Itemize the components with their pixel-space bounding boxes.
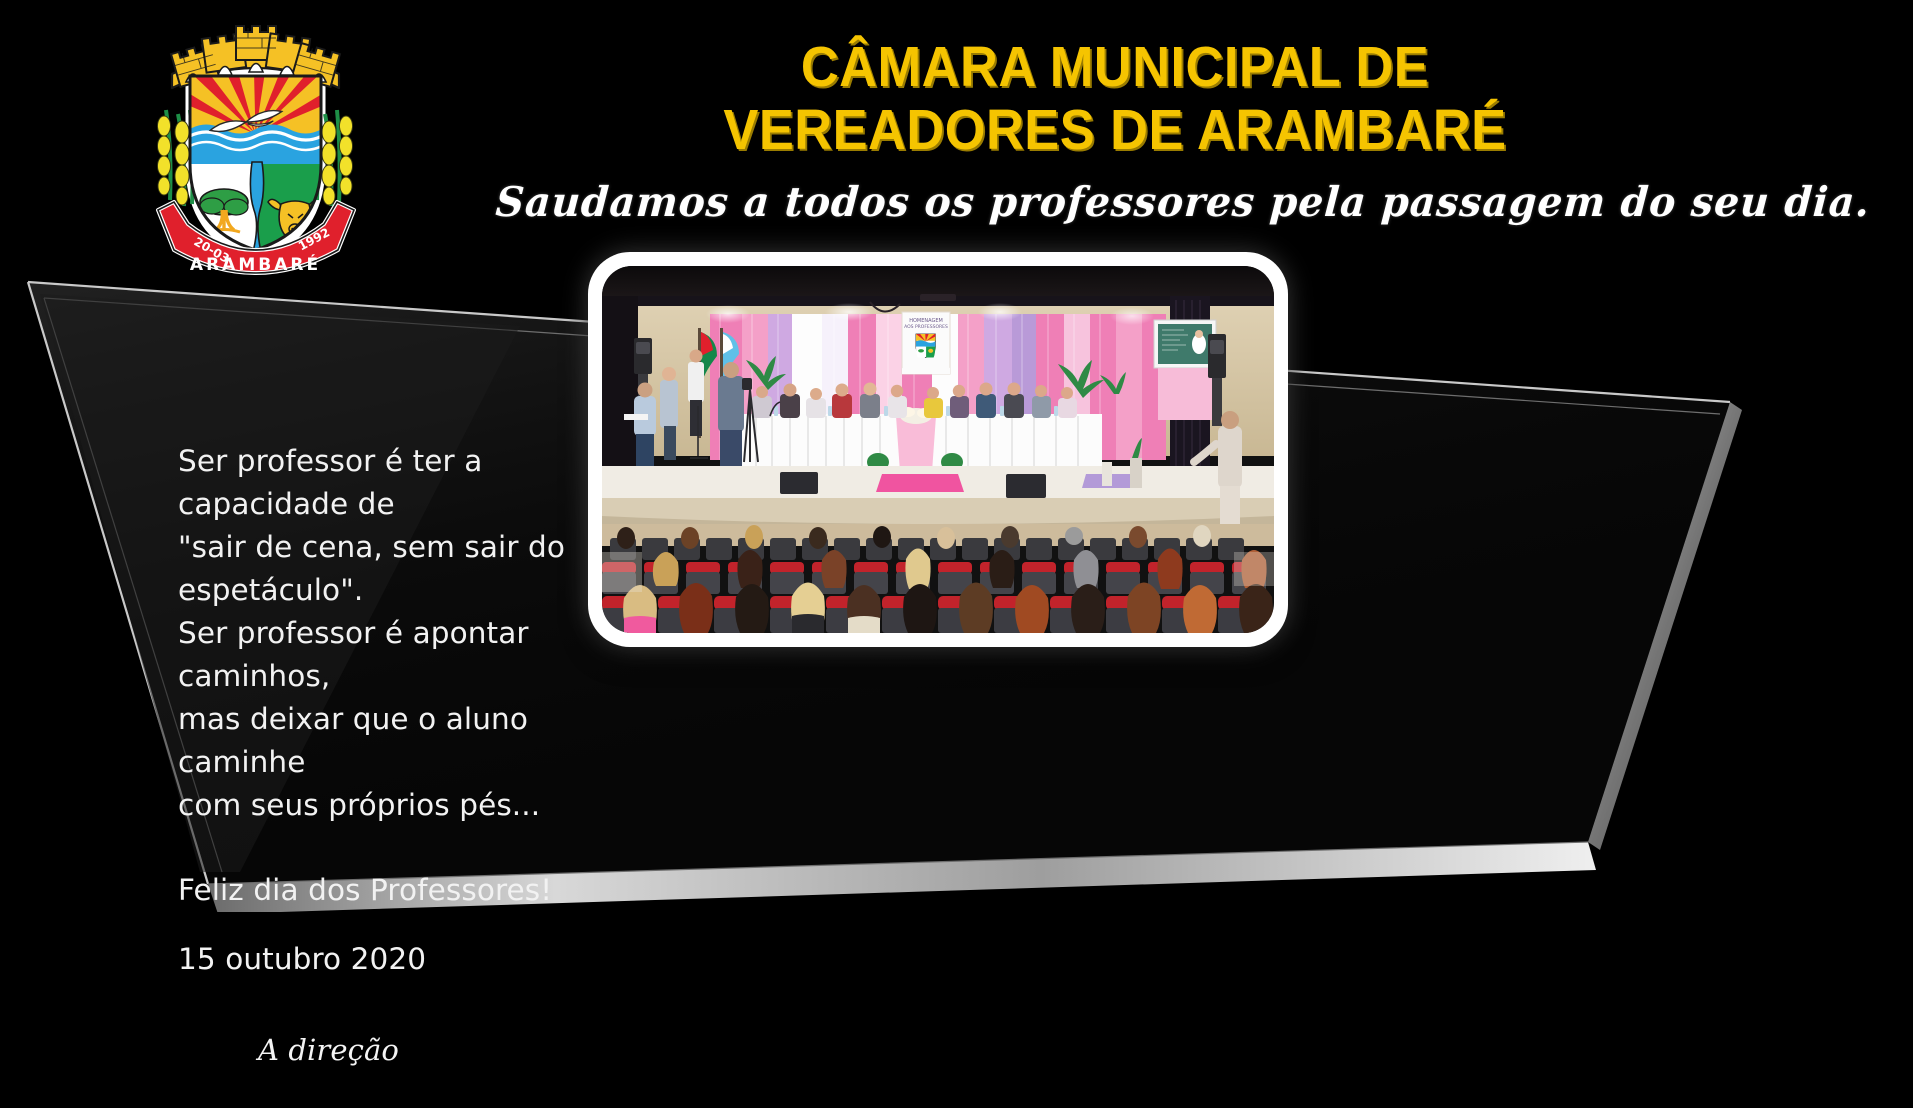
arambare-coat-of-arms-icon: 20-03 ARAMBARÉ 1992 — [128, 14, 383, 276]
message-spacer — [178, 827, 598, 869]
svg-text:HOMENAGEM: HOMENAGEM — [909, 318, 943, 324]
panel-message: Ser professor é ter a capacidade de "sai… — [178, 440, 598, 1072]
greeting-line: Feliz dia dos Professores! — [178, 869, 598, 912]
photo-frame: HOMENAGEM AOS PROFESSORES — [602, 266, 1274, 633]
page-title-line-2: VEREADORES DE ARAMBARÉ — [522, 99, 1709, 162]
poster-canvas: 20-03 ARAMBARÉ 1992 CÂMARA MUNICIPAL DE … — [0, 0, 1913, 1108]
crest-municipality: ARAMBARÉ — [190, 253, 321, 275]
photo-reflection: HOMENAGEM AOS PROFESSORES — [598, 652, 1288, 822]
message-line: com seus próprios pés... — [178, 784, 598, 827]
message-line: "sair de cena, sem sair do — [178, 526, 598, 569]
auditorium-ceremony-photo: HOMENAGEM AOS PROFESSORES — [588, 252, 1288, 647]
message-line: mas deixar que o aluno caminhe — [178, 698, 598, 784]
message-line: espetáculo". — [178, 569, 598, 612]
header-subtitle: Saudamos a todos os professores pela pas… — [494, 178, 1736, 226]
message-line: Ser professor é apontar caminhos, — [178, 612, 598, 698]
page-title-line-1: CÂMARA MUNICIPAL DE — [522, 36, 1709, 99]
svg-text:AOS PROFESSORES: AOS PROFESSORES — [904, 324, 948, 330]
message-line: Ser professor é ter a capacidade de — [178, 440, 598, 526]
date-line: 15 outubro 2020 — [178, 938, 598, 981]
header-title-block: CÂMARA MUNICIPAL DE VEREADORES DE ARAMBA… — [470, 36, 1760, 226]
poster-header: 20-03 ARAMBARÉ 1992 CÂMARA MUNICIPAL DE … — [0, 0, 1913, 290]
signature-line: A direção — [258, 1029, 598, 1072]
